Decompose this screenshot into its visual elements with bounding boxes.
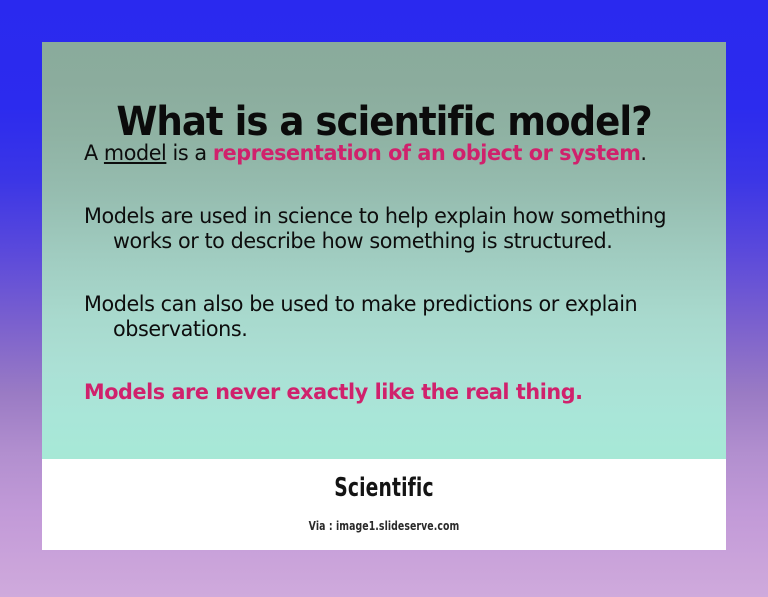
text-underlined-model: model — [104, 141, 166, 166]
paragraph-predictions: Models can also be used to make predicti… — [84, 293, 682, 343]
text-accent-limitation: Models are never exactly like the real t… — [84, 380, 583, 405]
text-plain: A — [84, 141, 104, 166]
footer-title: Scientific — [138, 473, 630, 503]
paragraph-purpose: Models are used in science to help expla… — [84, 205, 682, 255]
text-plain: Models are used in science to help expla… — [84, 204, 666, 254]
text-accent-representation: representation of an object or system — [213, 141, 641, 166]
page-title: What is a scientific model? — [66, 102, 702, 142]
page-backdrop: What is a scientific model? A model is a… — [0, 0, 768, 597]
paragraph-limitation: Models are never exactly like the real t… — [84, 381, 682, 406]
text-plain: . — [640, 141, 646, 166]
paragraph-definition: A model is a representation of an object… — [84, 142, 682, 167]
footer-credit-source: Via : image1.slideserve.com — [117, 519, 651, 533]
text-plain: is a — [166, 141, 212, 166]
text-plain: Models can also be used to make predicti… — [84, 292, 637, 342]
slide-body: A model is a representation of an object… — [84, 142, 704, 406]
footer-overlay-band: Scientific Via : image1.slideserve.com — [42, 459, 726, 550]
